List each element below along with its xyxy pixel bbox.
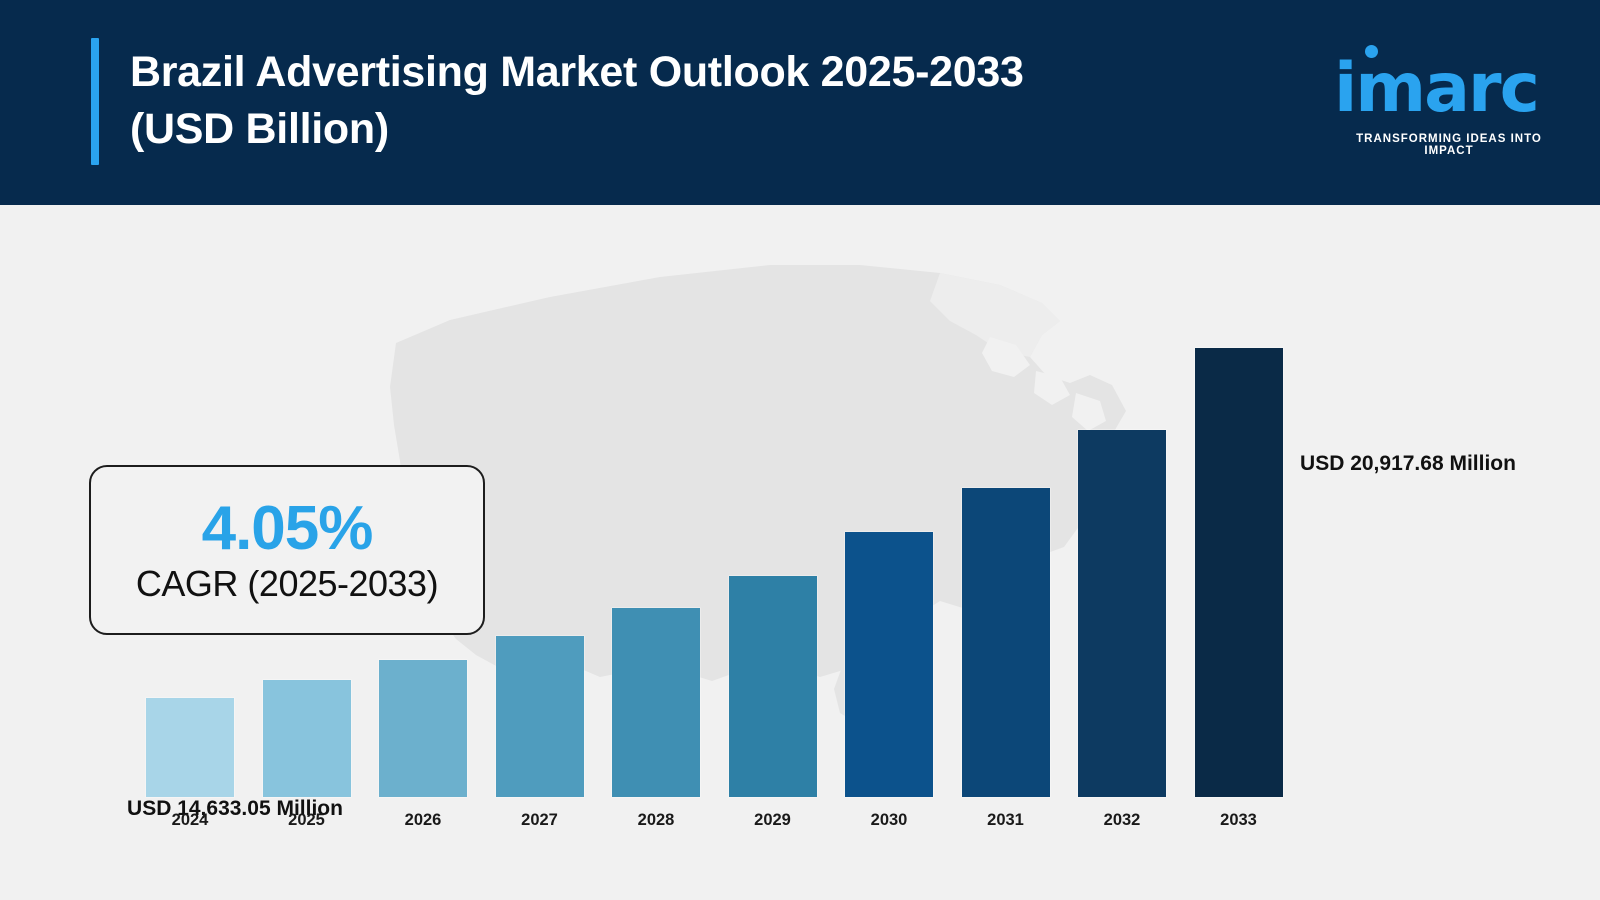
bar-plot: 2024202520262027202820292030203120322033 (0, 205, 1600, 900)
bar-2029[interactable] (729, 576, 817, 797)
bar-2026[interactable] (379, 660, 467, 797)
page-title-line-1: Brazil Advertising Market Outlook 2025-2… (130, 44, 1230, 101)
x-axis-label-2031: 2031 (946, 811, 1066, 830)
bar-2032[interactable] (1078, 430, 1166, 797)
logo-tagline: TRANSFORMING IDEAS INTO IMPACT (1336, 133, 1562, 157)
header-banner: Brazil Advertising Market Outlook 2025-2… (0, 0, 1600, 205)
x-axis-label-2032: 2032 (1062, 811, 1182, 830)
bar-2030[interactable] (845, 532, 933, 797)
chart-area: 4.05% CAGR (2025-2033) USD 14,633.05 Mil… (0, 205, 1600, 900)
logo-wordmark: imarc (1334, 55, 1562, 123)
title-accent-bar (91, 38, 99, 165)
bar-2028[interactable] (612, 608, 700, 797)
x-axis-label-2030: 2030 (829, 811, 949, 830)
bar-2033[interactable] (1195, 348, 1283, 797)
x-axis-label-2033: 2033 (1179, 811, 1299, 830)
imarc-logo: imarc TRANSFORMING IDEAS INTO IMPACT (1334, 45, 1562, 150)
x-axis-label-2029: 2029 (713, 811, 833, 830)
page-title: Brazil Advertising Market Outlook 2025-2… (130, 44, 1230, 158)
bar-2024[interactable] (146, 698, 234, 797)
infographic-root: Brazil Advertising Market Outlook 2025-2… (0, 0, 1600, 900)
x-axis-label-2024: 2024 (130, 811, 250, 830)
x-axis-label-2025: 2025 (247, 811, 367, 830)
x-axis-label-2028: 2028 (596, 811, 716, 830)
page-title-line-2: (USD Billion) (130, 101, 1230, 158)
x-axis-label-2026: 2026 (363, 811, 483, 830)
bar-2027[interactable] (496, 636, 584, 797)
bar-2031[interactable] (962, 488, 1050, 797)
x-axis-label-2027: 2027 (480, 811, 600, 830)
bar-2025[interactable] (263, 680, 351, 797)
